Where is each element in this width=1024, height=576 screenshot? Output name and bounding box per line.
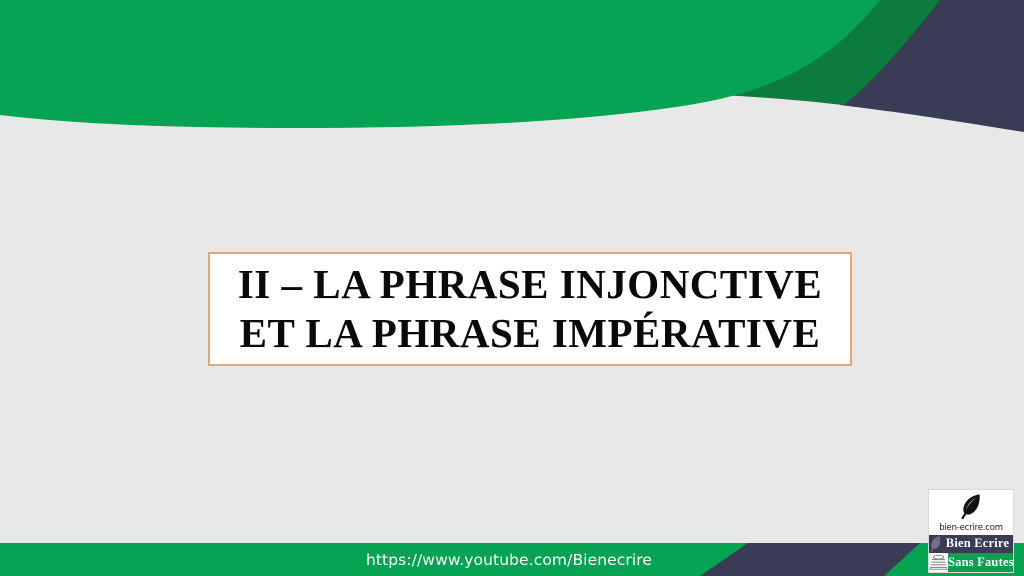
brand-logo[interactable]: bien-ecrire.com Bien Ecrire Sans Fautes <box>928 489 1014 573</box>
feather-quill-icon <box>958 493 984 520</box>
green-wave-shape <box>0 0 880 128</box>
book-stack-icon <box>929 554 948 571</box>
slide-canvas: II – LA PHRASE INJONCTIVE ET LA PHRASE I… <box>0 0 1024 576</box>
logo-brand-line-1: Bien Ecrire <box>942 535 1013 553</box>
quill-icon-wrap <box>929 490 1013 522</box>
top-wave-decoration <box>0 0 1024 150</box>
logo-brand-line-2-row: Sans Fautes <box>929 553 1013 572</box>
logo-brand-line-2: Sans Fautes <box>948 553 1014 572</box>
feather-watermark-icon <box>929 535 942 553</box>
logo-domain-text: bien-ecrire.com <box>929 522 1013 535</box>
footer-url-text: https://www.youtube.com/Bienecrire <box>0 543 1024 576</box>
page-title-line-1: II – LA PHRASE INJONCTIVE <box>238 260 822 309</box>
dark-green-wave-shape <box>720 0 940 105</box>
page-title-line-2: ET LA PHRASE IMPÉRATIVE <box>240 309 821 358</box>
navy-wave-shape <box>840 0 1024 132</box>
title-card: II – LA PHRASE INJONCTIVE ET LA PHRASE I… <box>208 252 852 366</box>
logo-feather-watermark-left <box>929 535 942 553</box>
book-stack-icon-wrap <box>929 553 948 572</box>
logo-brand-line-1-row: Bien Ecrire <box>929 535 1013 553</box>
